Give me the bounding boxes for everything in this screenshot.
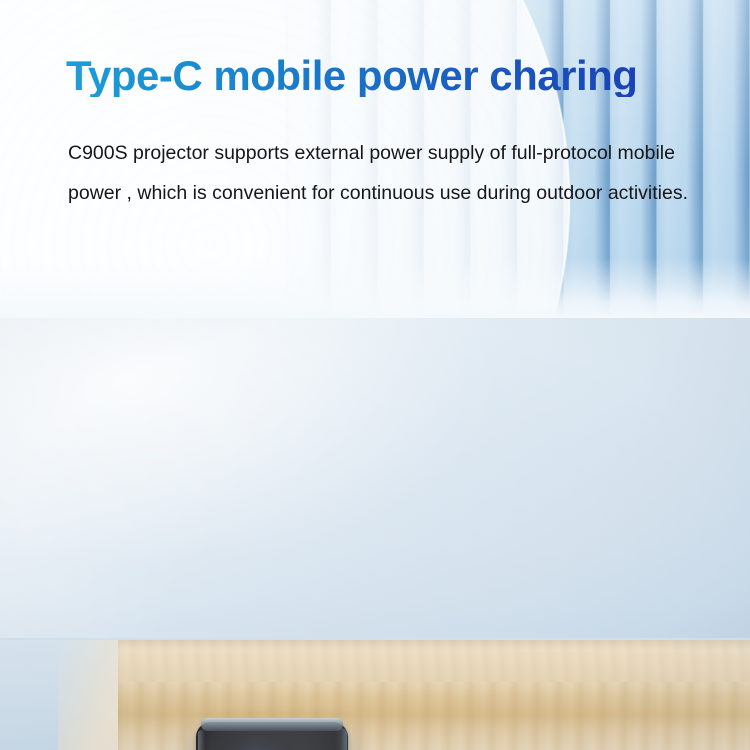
product-feature-banner: Type-C mobile power charing C900S projec… (0, 0, 750, 750)
page-title: Type-C mobile power charing (66, 55, 726, 97)
banner-section: Type-C mobile power charing C900S projec… (0, 0, 750, 318)
wall-shadow-gradient (0, 318, 750, 638)
product-photo-scene: india contemporary KITCHENS DESIGN henry… (0, 318, 750, 750)
projector-right-highlight (335, 728, 347, 750)
table-left-background (0, 640, 118, 750)
projector-top-surface (201, 718, 343, 731)
banner-fade-divider (0, 258, 750, 318)
description-text: C900S projector supports external power … (68, 133, 724, 214)
projector-left-highlight (198, 730, 205, 750)
projector-device: ⚠ | ⇨◁▷▶ SMART PROJECTOR (196, 722, 348, 750)
